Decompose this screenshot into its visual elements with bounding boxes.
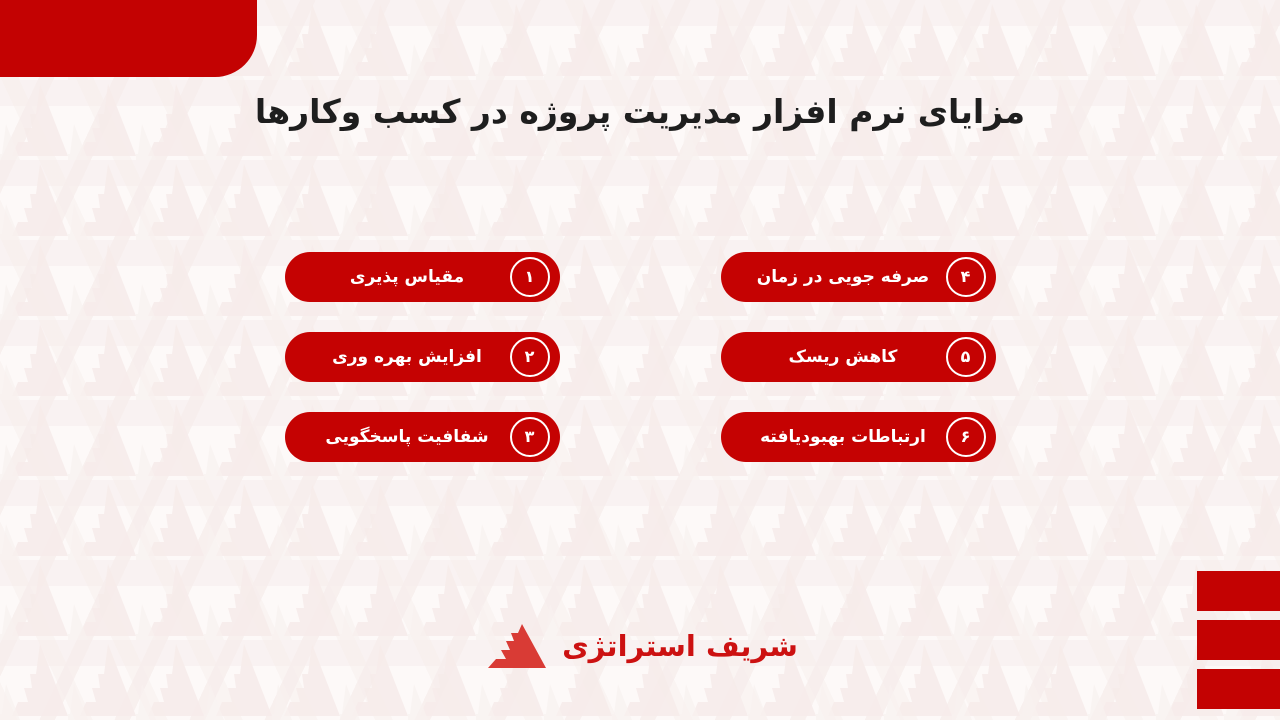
benefit-label: ارتباطات بهبودیافته [735,427,946,447]
page-title: مزایای نرم افزار مدیریت پروژه در کسب وکا… [0,92,1280,131]
benefit-number-badge: ۶ [946,417,986,457]
slide-canvas: مزایای نرم افزار مدیریت پروژه در کسب وکا… [0,0,1280,720]
brand-logo: شریف استراتژی [0,624,1280,670]
top-left-red-block [0,0,257,77]
benefit-item-5[interactable]: ۵ کاهش ریسک [721,332,996,382]
mountain-icon [482,624,548,670]
benefit-item-4[interactable]: ۴ صرفه جویی در زمان [721,252,996,302]
benefits-column-left: ۴ صرفه جویی در زمان ۵ کاهش ریسک ۶ ارتباط… [721,252,996,462]
benefit-label: افزایش بهره وری [299,347,510,367]
benefit-number-badge: ۵ [946,337,986,377]
benefit-label: شفافیت پاسخگویی [299,427,510,447]
brand-name: شریف استراتژی [562,632,798,663]
benefit-number-badge: ۱ [510,257,550,297]
benefit-label: مقیاس پذیری [299,267,510,287]
benefit-label: کاهش ریسک [735,347,946,367]
benefit-item-6[interactable]: ۶ ارتباطات بهبودیافته [721,412,996,462]
benefit-number-badge: ۴ [946,257,986,297]
red-bar [1197,669,1280,709]
benefit-number-badge: ۲ [510,337,550,377]
benefits-column-right: ۱ مقیاس پذیری ۲ افزایش بهره وری ۳ شفافیت… [285,252,560,462]
red-bar [1197,571,1280,611]
benefits-list: ۱ مقیاس پذیری ۲ افزایش بهره وری ۳ شفافیت… [0,252,1280,462]
benefit-number-badge: ۳ [510,417,550,457]
benefit-item-3[interactable]: ۳ شفافیت پاسخگویی [285,412,560,462]
benefit-item-2[interactable]: ۲ افزایش بهره وری [285,332,560,382]
benefit-label: صرفه جویی در زمان [735,267,946,287]
benefit-item-1[interactable]: ۱ مقیاس پذیری [285,252,560,302]
